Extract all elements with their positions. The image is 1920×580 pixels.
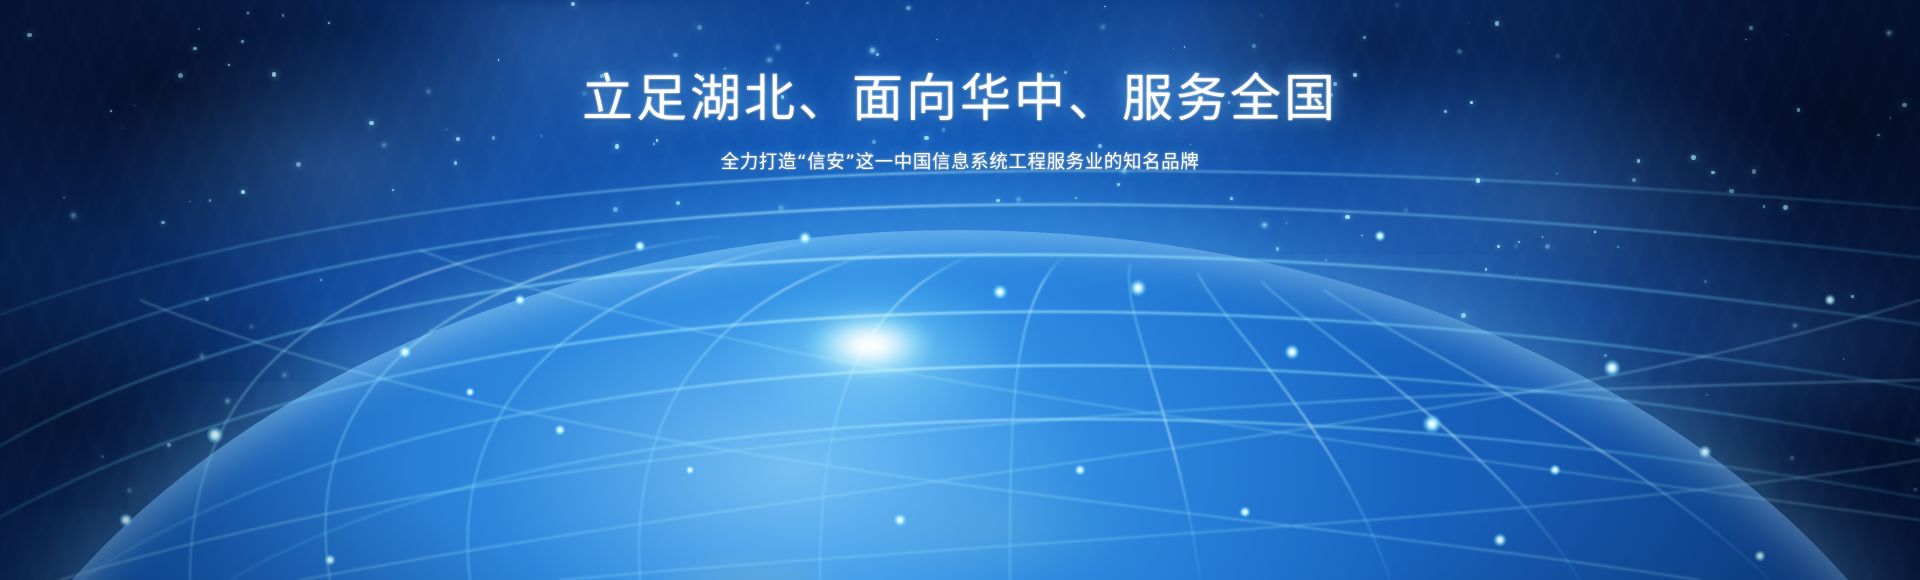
hero-banner: 立足湖北、面向华中、服务全国 全力打造“信安”这一中国信息系统工程服务业的知名品…: [0, 0, 1920, 580]
connection-mesh-icon: [0, 0, 1920, 580]
